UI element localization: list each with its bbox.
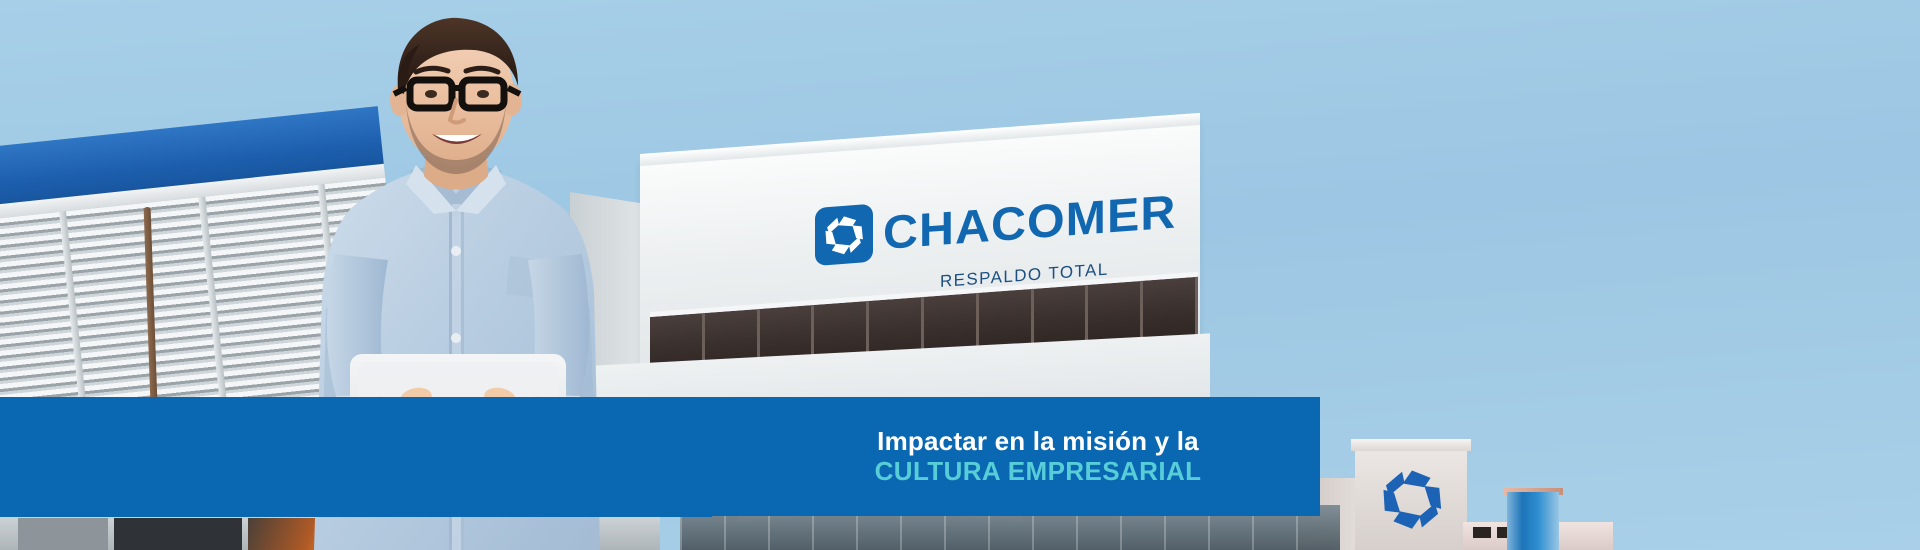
banner-text-group: Impactar en la misión y la CULTURA EMPRE… — [712, 397, 1320, 516]
street-panel — [18, 518, 108, 550]
right-tower — [1355, 448, 1655, 550]
hero-banner: CHACOMER RESPALDO TOTAL — [0, 0, 1920, 550]
aperture-shutter-icon — [823, 212, 865, 257]
chacomer-logo-mark — [815, 204, 873, 266]
right-tower-cap — [1351, 439, 1471, 451]
right-tower-logo — [1381, 468, 1443, 535]
street-panel — [114, 518, 242, 550]
banner-left-block — [0, 397, 712, 517]
head — [390, 18, 522, 174]
right-tower-window — [1473, 527, 1491, 538]
banner-headline: Impactar en la misión y la — [877, 427, 1199, 456]
aperture-shutter-icon — [1381, 468, 1443, 530]
glass-tower — [1507, 492, 1559, 550]
banner-subheadline: CULTURA EMPRESARIAL — [875, 457, 1202, 486]
